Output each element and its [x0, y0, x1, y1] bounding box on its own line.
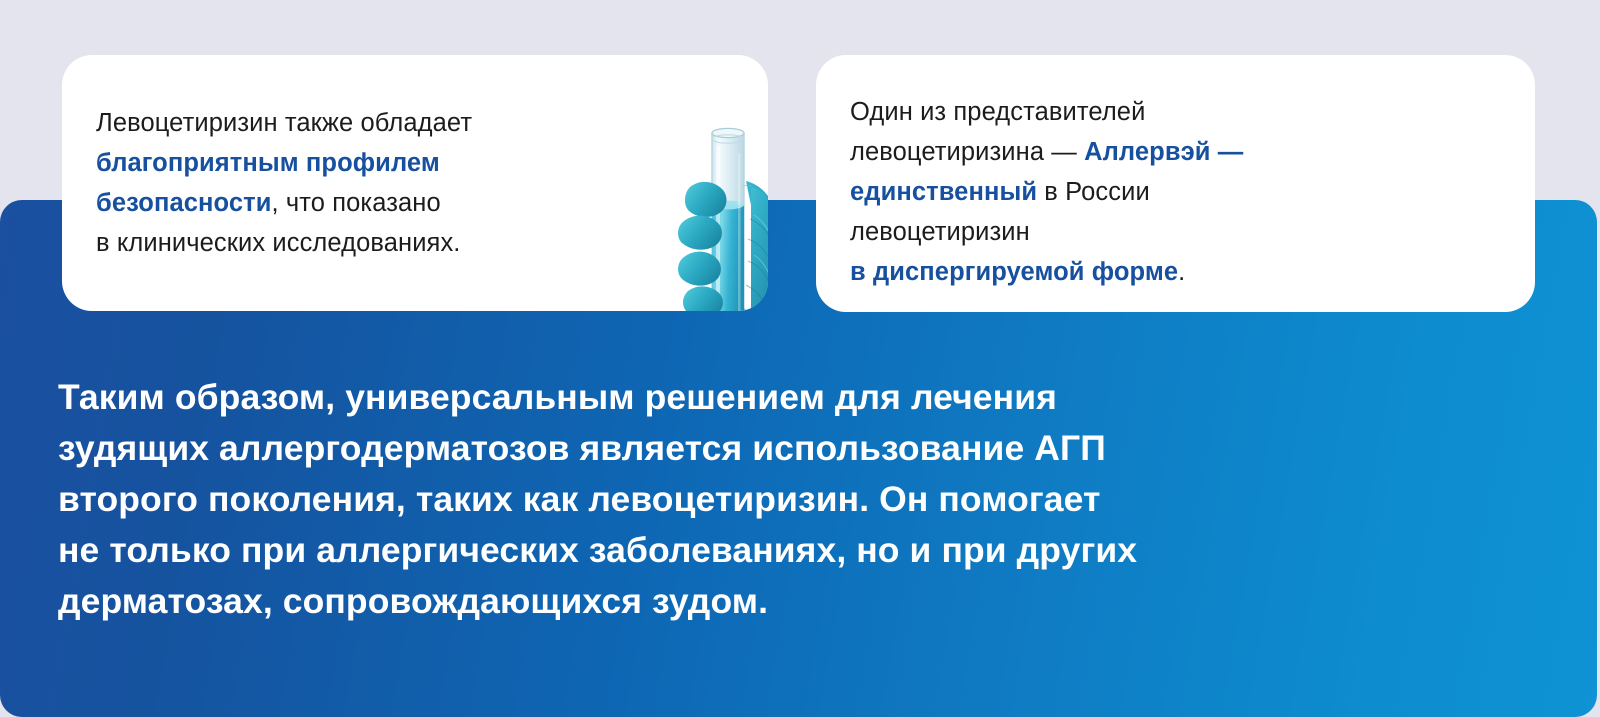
info-card-right[interactable]: Один из представителей левоцетиризина — …	[816, 55, 1535, 312]
text-run-4: .	[1178, 258, 1185, 286]
info-card-right-text: Один из представителей левоцетиризина — …	[850, 92, 1320, 292]
slide-canvas: Левоцетиризин также обладает благоприятн…	[0, 0, 1600, 717]
info-card-left-text: Левоцетиризин также обладает благоприятн…	[96, 103, 596, 263]
gloved-hand-holding-test-tube-icon	[650, 123, 768, 311]
info-card-left[interactable]: Левоцетиризин также обладает благоприятн…	[62, 55, 768, 311]
summary-headline: Таким образом, универсальным решением дл…	[58, 372, 1458, 627]
text-run-0: Левоцетиризин также обладает	[96, 109, 472, 137]
text-run-3-accent: в диспергируемой форме	[850, 258, 1178, 286]
